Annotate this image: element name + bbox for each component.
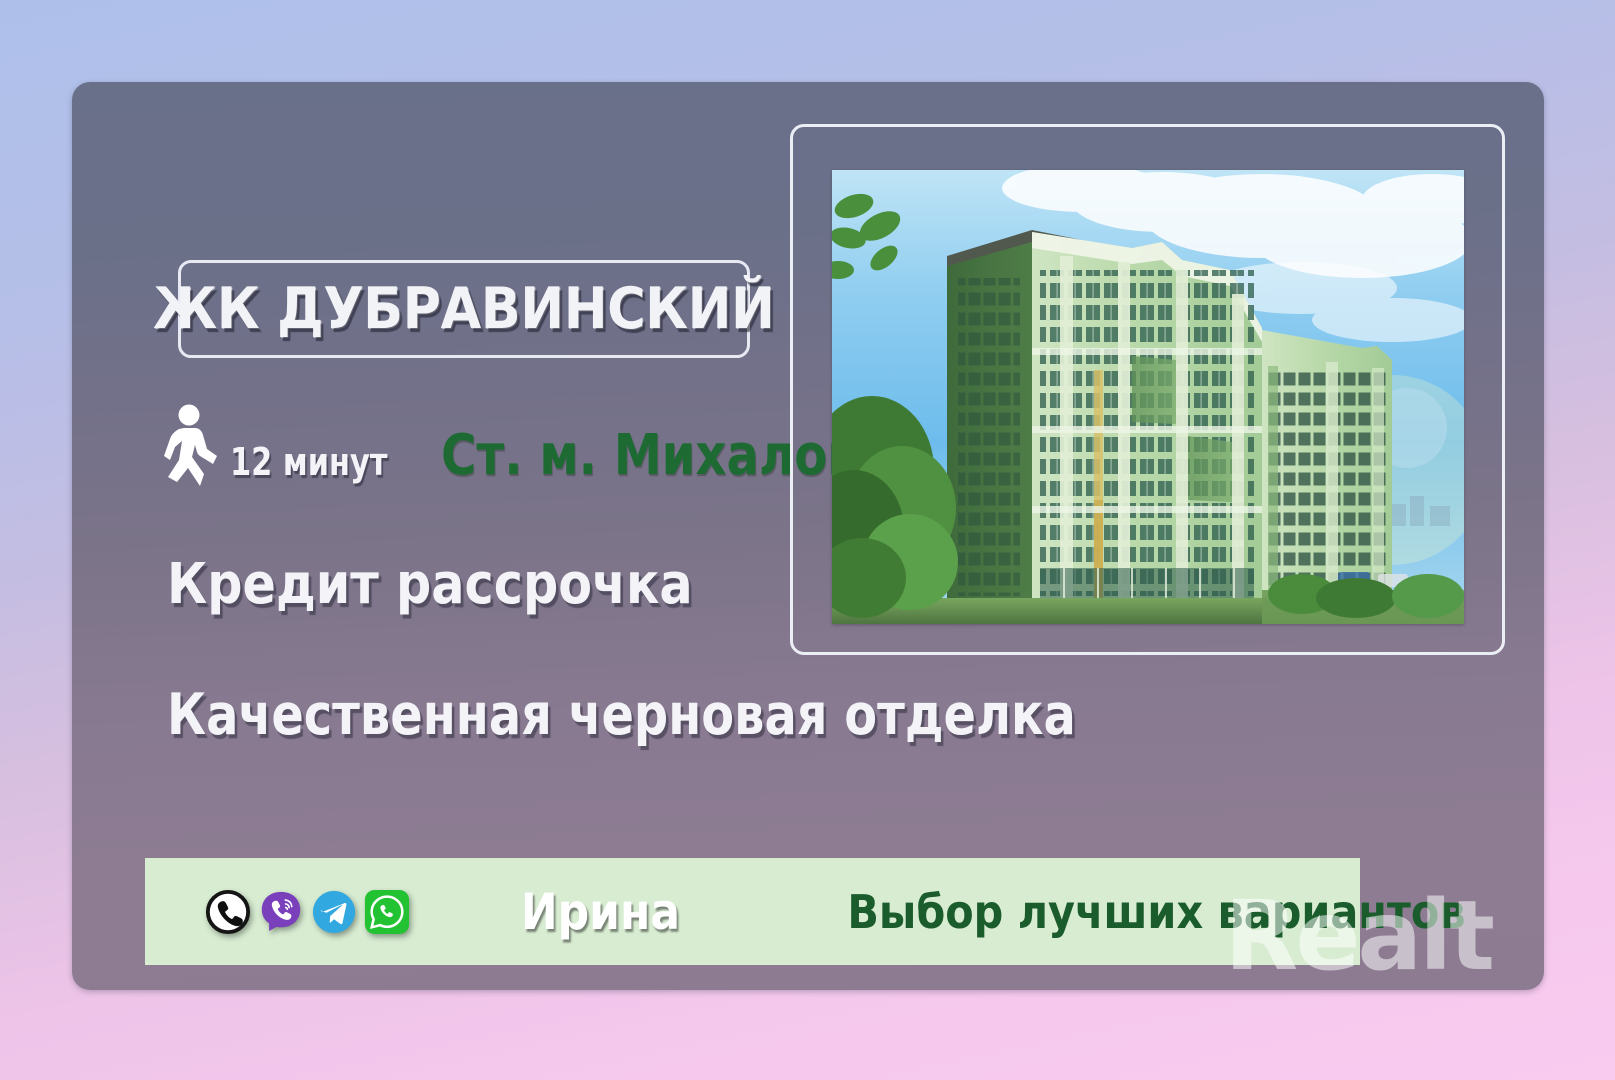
phone-icon[interactable] — [205, 889, 251, 935]
telegram-icon[interactable] — [311, 889, 357, 935]
benefit-credit-installment: Кредит рассрочка — [167, 552, 693, 617]
project-title-plate: ЖК ДУБРАВИНСКИЙ — [178, 260, 750, 358]
whatsapp-icon[interactable] — [364, 889, 410, 935]
walk-time-label: 12 минут — [230, 440, 387, 484]
tagline: Выбор лучших вариантов — [847, 885, 1465, 939]
building-photo — [832, 170, 1464, 624]
contact-bar: Ирина Выбор лучших вариантов — [145, 858, 1360, 965]
page-title: ЖК ДУБРАВИНСКИЙ — [153, 281, 774, 338]
agent-name: Ирина — [521, 883, 680, 941]
ad-card: ЖК ДУБРАВИНСКИЙ 12 минут Ст. м. Михалово… — [72, 82, 1544, 990]
pedestrian-walk-icon — [164, 404, 222, 490]
viber-icon[interactable] — [258, 889, 304, 935]
advertisement-banner: ЖК ДУБРАВИНСКИЙ 12 минут Ст. м. Михалово… — [0, 0, 1615, 1080]
social-icon-group — [205, 889, 410, 935]
benefit-quality-finish: Качественная черновая отделка — [167, 682, 1076, 748]
